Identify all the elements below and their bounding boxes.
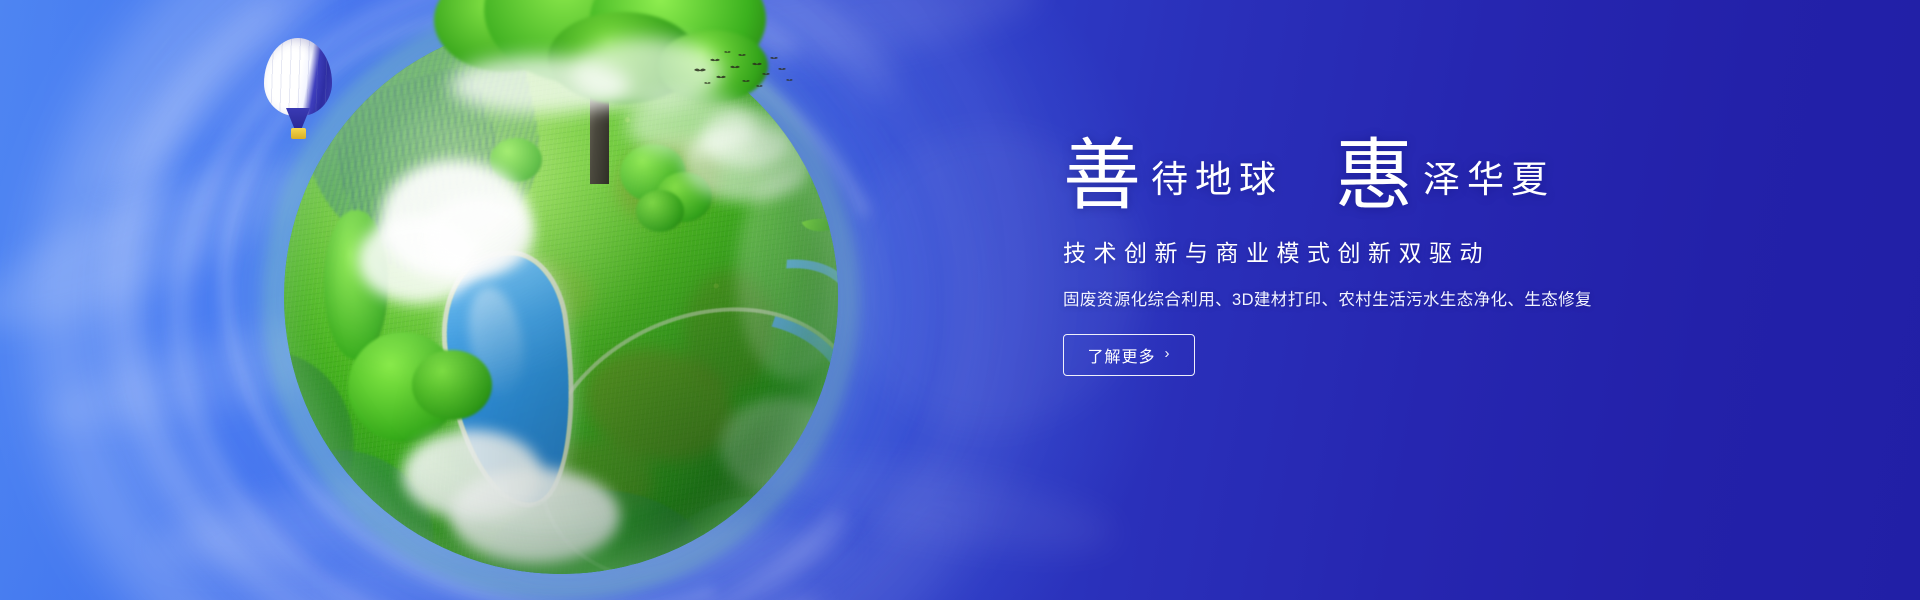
balloon-gores bbox=[264, 38, 332, 116]
hot-air-balloon bbox=[258, 38, 342, 146]
hero-banner: 善 待地球 惠 泽华夏 技术创新与商业模式创新双驱动 固废资源化综合利用、3D建… bbox=[0, 0, 1920, 600]
learn-more-label: 了解更多 bbox=[1087, 343, 1155, 367]
tree-cluster bbox=[636, 190, 684, 232]
surface-cloud bbox=[720, 398, 838, 494]
bird-flock-icon bbox=[690, 50, 800, 92]
hero-description: 固废资源化综合利用、3D建材打印、农村生活污水生态净化、生态修复 bbox=[1063, 286, 1823, 310]
learn-more-button[interactable]: 了解更多 › bbox=[1063, 334, 1195, 376]
surface-cloud bbox=[736, 170, 838, 380]
tree-mist bbox=[626, 94, 756, 156]
headline-text-zehuaxia: 泽华夏 bbox=[1413, 162, 1555, 199]
page-title: 善 待地球 惠 泽华夏 bbox=[1063, 136, 1823, 208]
balloon-basket bbox=[291, 128, 306, 139]
balloon-skirt bbox=[286, 108, 310, 128]
surface-cloud bbox=[450, 468, 620, 564]
headline-char-shan: 善 bbox=[1063, 140, 1141, 212]
headline-char-hui: 惠 bbox=[1335, 140, 1413, 212]
tree-cluster bbox=[412, 350, 492, 420]
surface-cloud bbox=[424, 195, 534, 275]
headline-text-daidiqiu: 待地球 bbox=[1141, 162, 1283, 199]
hero-subtitle: 技术创新与商业模式创新双驱动 bbox=[1063, 234, 1823, 268]
hero-text-block: 善 待地球 惠 泽华夏 技术创新与商业模式创新双驱动 固废资源化综合利用、3D建… bbox=[1063, 136, 1823, 376]
large-tree bbox=[430, 0, 760, 191]
chevron-right-icon: › bbox=[1165, 346, 1171, 361]
